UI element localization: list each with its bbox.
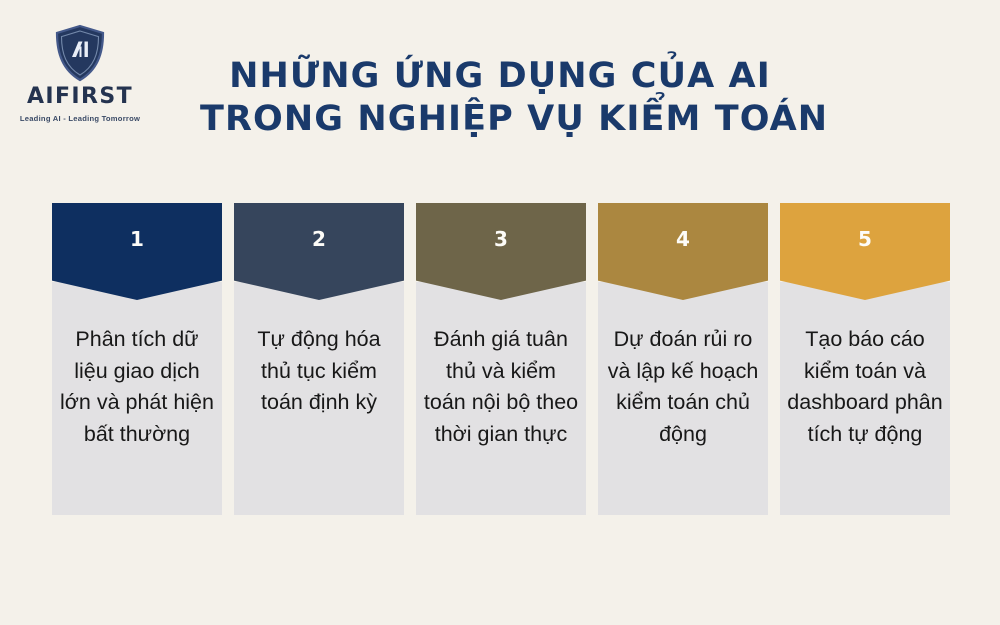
card-text: Phân tích dữ liệu giao dịch lớn và phát …: [52, 282, 222, 515]
card-header-2: 2: [234, 203, 404, 300]
card-text: Tạo báo cáo kiểm toán và dashboard phân …: [780, 282, 950, 515]
shield-ai-logo-icon: [53, 24, 107, 82]
application-cards-row: 1 Phân tích dữ liệu giao dịch lớn và phá…: [52, 203, 948, 515]
application-card: 4 Dự đoán rủi ro và lập kế hoạch kiểm to…: [598, 203, 768, 515]
application-card: 3 Đánh giá tuân thủ và kiểm toán nội bộ …: [416, 203, 586, 515]
page-title-line-1: NHỮNG ỨNG DỤNG CỦA AI: [200, 55, 800, 98]
application-card: 2 Tự động hóa thủ tục kiểm toán định kỳ: [234, 203, 404, 515]
card-text: Đánh giá tuân thủ và kiểm toán nội bộ th…: [416, 282, 586, 515]
card-header-3: 3: [416, 203, 586, 300]
card-number: 2: [312, 229, 326, 249]
card-number: 4: [676, 229, 690, 249]
brand-logo: AIFIRST Leading AI - Leading Tomorrow: [12, 24, 148, 123]
brand-tagline: Leading AI - Leading Tomorrow: [12, 115, 148, 123]
application-card: 1 Phân tích dữ liệu giao dịch lớn và phá…: [52, 203, 222, 515]
card-header-1: 1: [52, 203, 222, 300]
brand-wordmark: AIFIRST: [12, 86, 148, 108]
page-title: NHỮNG ỨNG DỤNG CỦA AI TRONG NGHIỆP VỤ KI…: [200, 55, 800, 142]
card-number: 5: [858, 229, 872, 249]
card-text: Tự động hóa thủ tục kiểm toán định kỳ: [234, 282, 404, 515]
card-header-4: 4: [598, 203, 768, 300]
card-number: 3: [494, 229, 508, 249]
application-card: 5 Tạo báo cáo kiểm toán và dashboard phâ…: [780, 203, 950, 515]
card-text: Dự đoán rủi ro và lập kế hoạch kiểm toán…: [598, 282, 768, 515]
card-number: 1: [130, 229, 144, 249]
page-title-line-2: TRONG NGHIỆP VỤ KIỂM TOÁN: [200, 98, 800, 141]
card-header-5: 5: [780, 203, 950, 300]
